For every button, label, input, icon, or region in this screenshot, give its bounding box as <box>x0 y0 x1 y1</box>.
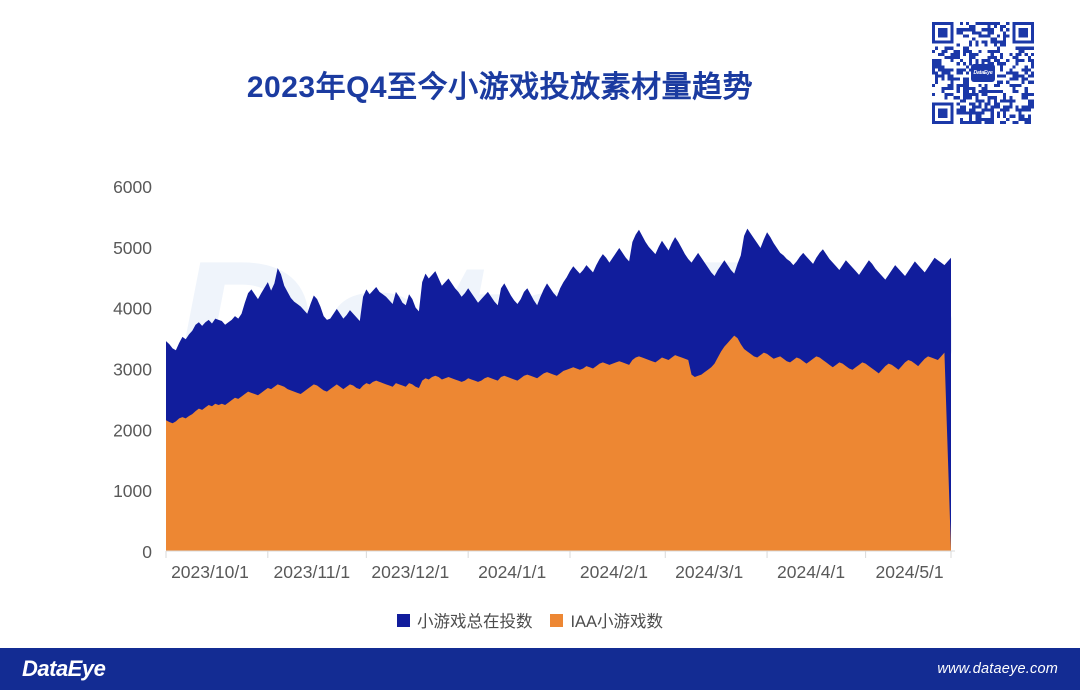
x-axis-tick-label: 2023/10/1 <box>171 562 249 582</box>
y-axis-tick-label: 1000 <box>113 481 152 501</box>
y-axis-tick-label: 0 <box>142 542 152 562</box>
area-chart: DataEye 0100020003000400050006000 2023/1… <box>0 0 1080 650</box>
legend-label-iaa: IAA小游戏数 <box>570 608 663 632</box>
chart-axes <box>166 551 955 558</box>
chart-container: DataEye 0100020003000400050006000 2023/1… <box>0 0 1080 650</box>
y-axis-tick-label: 6000 <box>113 177 152 197</box>
legend-swatch-total <box>397 614 410 627</box>
y-axis-tick-label: 4000 <box>113 299 152 319</box>
x-axis-tick-label: 2023/12/1 <box>371 562 449 582</box>
footer-website-url: www.dataeye.com <box>937 661 1058 677</box>
legend-item-total[interactable]: 小游戏总在投数 <box>397 608 533 632</box>
footer-bar: DataEye www.dataeye.com <box>0 648 1080 690</box>
x-axis-tick-label: 2024/1/1 <box>478 562 546 582</box>
y-axis-labels: 0100020003000400050006000 <box>113 177 152 562</box>
legend-swatch-iaa <box>550 614 563 627</box>
dataeye-logo: DataEye <box>22 656 105 682</box>
x-axis-tick-label: 2023/11/1 <box>274 562 351 582</box>
x-axis-tick-label: 2024/4/1 <box>777 562 845 582</box>
x-axis-tick-label: 2024/2/1 <box>580 562 648 582</box>
x-axis-tick-label: 2024/3/1 <box>675 562 743 582</box>
legend-label-total: 小游戏总在投数 <box>417 608 533 632</box>
legend-item-iaa[interactable]: IAA小游戏数 <box>550 608 663 632</box>
y-axis-tick-label: 3000 <box>113 360 152 380</box>
chart-legend: 小游戏总在投数 IAA小游戏数 <box>0 608 1060 632</box>
x-axis-labels: 2023/10/12023/11/12023/12/12024/1/12024/… <box>171 562 944 582</box>
y-axis-tick-label: 2000 <box>113 420 152 440</box>
y-axis-tick-label: 5000 <box>113 238 152 258</box>
x-axis-tick-label: 2024/5/1 <box>876 562 944 582</box>
